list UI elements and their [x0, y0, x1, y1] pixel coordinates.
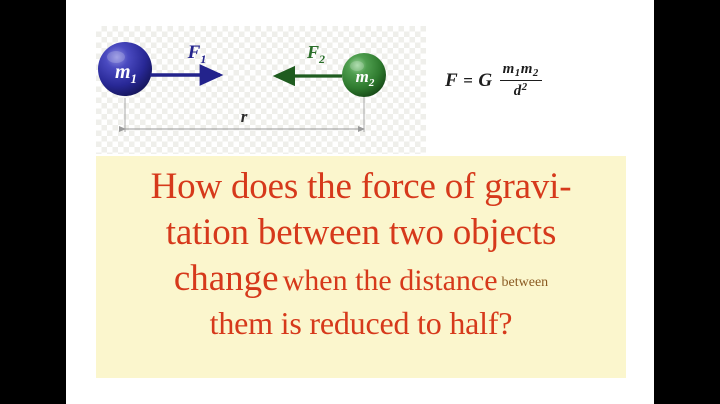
gravitation-formula: F = G m1m2 d2	[445, 62, 635, 100]
formula-d: d	[514, 83, 522, 99]
force2-label: F2	[306, 42, 325, 66]
formula-fraction: m1m2 d2	[500, 62, 542, 100]
formula-equals-sign: =	[463, 71, 473, 91]
formula-m2-sub: 2	[533, 67, 539, 79]
formula-denominator: d2	[511, 81, 531, 100]
formula-numerator: m1m2	[500, 62, 542, 81]
question-line-2: tation between two objects	[96, 205, 626, 251]
question-line-1: How does the force of gravi-	[96, 156, 626, 205]
question-line-4: them is reduced to half?	[96, 297, 626, 339]
force1-label: F1	[187, 42, 207, 66]
question-word-between: between	[502, 275, 549, 290]
mass2-sphere: m2	[342, 53, 386, 97]
formula-constant-g: G	[478, 70, 492, 92]
gravitation-diagram: r m1 m2 F1	[96, 26, 426, 154]
letterbox-bar-left	[0, 0, 66, 404]
question-phrase-when-the-distance: when the distance	[283, 264, 498, 297]
formula-d-exp: 2	[522, 81, 528, 93]
force2-arrow-group: F2	[276, 42, 342, 76]
formula-force-symbol: F	[445, 70, 458, 92]
formula-m1: m	[503, 61, 515, 77]
formula-m2: m	[521, 61, 533, 77]
question-line-3: change when the distance between	[96, 251, 626, 297]
slide-screen: r m1 m2 F1	[0, 0, 720, 404]
letterbox-bar-right	[654, 0, 720, 404]
gravitation-diagram-svg: r m1 m2 F1	[96, 26, 426, 154]
mass1-sphere: m1	[98, 42, 152, 96]
force1-arrow-group: F1	[150, 42, 220, 75]
slide-canvas: r m1 m2 F1	[66, 0, 654, 404]
question-word-change: change	[174, 258, 279, 299]
distance-label-r: r	[241, 107, 248, 126]
question-text-box: How does the force of gravi- tation betw…	[96, 156, 626, 378]
distance-dimension-group: r	[125, 86, 364, 132]
